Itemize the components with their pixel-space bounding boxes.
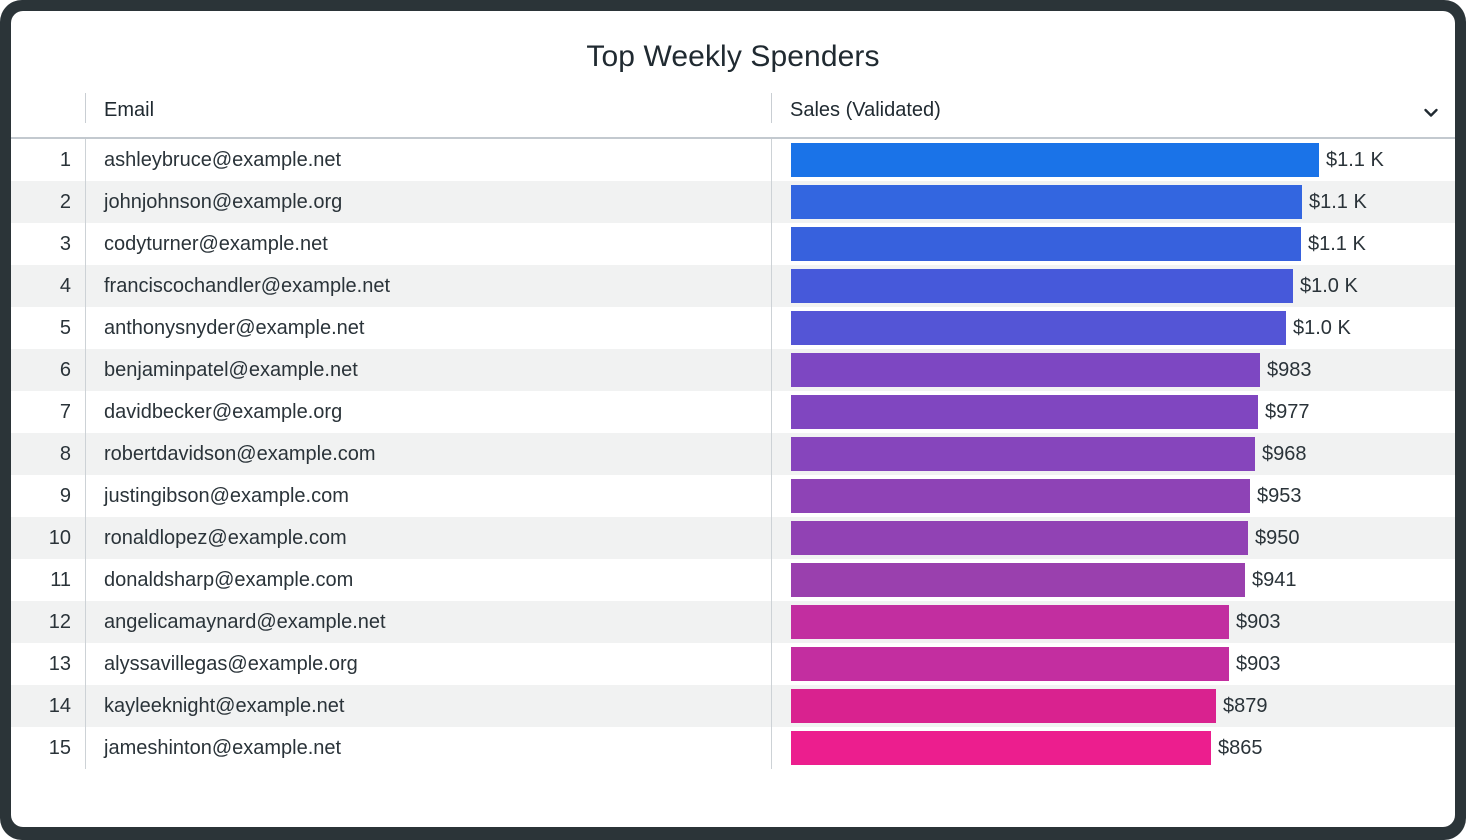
row-email-cell: ashleybruce@example.net (85, 138, 771, 181)
row-bar-value-label: $950 (1248, 527, 1300, 550)
row-email-label: angelicamaynard@example.net (85, 601, 771, 643)
table-body: 1ashleybruce@example.net$1.1 K2johnjohns… (11, 138, 1455, 769)
row-sales-inner: $879 (771, 685, 1455, 727)
row-email-cell: benjaminpatel@example.net (85, 349, 771, 391)
row-email-label: jameshinton@example.net (85, 727, 771, 769)
row-rank: 2 (11, 181, 85, 223)
row-rank: 1 (11, 138, 85, 181)
column-header-email[interactable]: Email (85, 93, 771, 138)
row-rank: 7 (11, 391, 85, 433)
row-bar (791, 143, 1319, 177)
row-sales-cell: $865 (771, 727, 1455, 769)
row-email-cell: jameshinton@example.net (85, 727, 771, 769)
column-header-sales-label: Sales (Validated) (790, 97, 941, 123)
table-row[interactable]: 14kayleeknight@example.net$879 (11, 685, 1455, 727)
row-rank: 3 (11, 223, 85, 265)
row-sales-cell: $983 (771, 349, 1455, 391)
row-bar (791, 269, 1293, 303)
row-rank: 14 (11, 685, 85, 727)
row-bar-value-label: $1.1 K (1319, 149, 1384, 172)
chevron-down-icon[interactable] (1421, 103, 1441, 123)
row-sales-inner: $950 (771, 517, 1455, 559)
row-rank: 4 (11, 265, 85, 307)
spenders-table: Email Sales (Validated) (11, 93, 1455, 769)
row-email-label: donaldsharp@example.com (85, 559, 771, 601)
column-header-rank (11, 93, 85, 138)
row-email-label: robertdavidson@example.com (85, 433, 771, 475)
row-rank: 12 (11, 601, 85, 643)
row-rank: 6 (11, 349, 85, 391)
row-email-cell: angelicamaynard@example.net (85, 601, 771, 643)
table-row[interactable]: 11donaldsharp@example.com$941 (11, 559, 1455, 601)
row-bar-value-label: $865 (1211, 737, 1263, 760)
row-sales-inner: $1.0 K (771, 307, 1455, 349)
row-bar-value-label: $1.1 K (1301, 233, 1366, 256)
row-bar (791, 395, 1258, 429)
row-bar-value-label: $983 (1260, 359, 1312, 382)
row-email-label: franciscochandler@example.net (85, 265, 771, 307)
table-row[interactable]: 15jameshinton@example.net$865 (11, 727, 1455, 769)
row-email-cell: davidbecker@example.org (85, 391, 771, 433)
row-sales-inner: $1.1 K (771, 223, 1455, 265)
row-bar-value-label: $941 (1245, 569, 1297, 592)
row-rank: 10 (11, 517, 85, 559)
row-bar (791, 185, 1302, 219)
row-email-cell: franciscochandler@example.net (85, 265, 771, 307)
row-email-label: kayleeknight@example.net (85, 685, 771, 727)
row-sales-cell: $879 (771, 685, 1455, 727)
device-frame: Top Weekly Spenders Email (0, 0, 1466, 840)
row-rank: 13 (11, 643, 85, 685)
row-bar (791, 353, 1260, 387)
row-email-cell: codyturner@example.net (85, 223, 771, 265)
row-sales-inner: $1.0 K (771, 265, 1455, 307)
row-bar-value-label: $1.0 K (1286, 317, 1351, 340)
row-email-label: davidbecker@example.org (85, 391, 771, 433)
table-row[interactable]: 13alyssavillegas@example.org$903 (11, 643, 1455, 685)
row-sales-cell: $950 (771, 517, 1455, 559)
row-bar-value-label: $903 (1229, 611, 1281, 634)
table-row[interactable]: 6benjaminpatel@example.net$983 (11, 349, 1455, 391)
row-bar (791, 563, 1245, 597)
table-header-row: Email Sales (Validated) (11, 93, 1455, 138)
row-bar (791, 605, 1229, 639)
row-email-cell: anthonysnyder@example.net (85, 307, 771, 349)
row-email-cell: kayleeknight@example.net (85, 685, 771, 727)
row-email-label: ronaldlopez@example.com (85, 517, 771, 559)
row-bar-value-label: $968 (1255, 443, 1307, 466)
page-title: Top Weekly Spenders (11, 11, 1455, 77)
chart-card: Top Weekly Spenders Email (11, 11, 1455, 827)
row-sales-inner: $903 (771, 601, 1455, 643)
row-bar (791, 647, 1229, 681)
row-bar (791, 521, 1248, 555)
column-header-email-label: Email (104, 97, 154, 123)
row-bar-value-label: $1.0 K (1293, 275, 1358, 298)
row-sales-inner: $977 (771, 391, 1455, 433)
row-sales-cell: $903 (771, 643, 1455, 685)
row-sales-cell: $941 (771, 559, 1455, 601)
row-sales-inner: $983 (771, 349, 1455, 391)
table-row[interactable]: 1ashleybruce@example.net$1.1 K (11, 138, 1455, 181)
table-header: Email Sales (Validated) (11, 93, 1455, 138)
row-email-label: justingibson@example.com (85, 475, 771, 517)
row-sales-cell: $953 (771, 475, 1455, 517)
row-email-cell: alyssavillegas@example.org (85, 643, 771, 685)
table-row[interactable]: 9justingibson@example.com$953 (11, 475, 1455, 517)
row-rank: 9 (11, 475, 85, 517)
row-sales-cell: $977 (771, 391, 1455, 433)
row-sales-inner: $941 (771, 559, 1455, 601)
row-bar (791, 437, 1255, 471)
row-bar (791, 227, 1301, 261)
table-row[interactable]: 7davidbecker@example.org$977 (11, 391, 1455, 433)
row-bar (791, 689, 1216, 723)
row-email-label: johnjohnson@example.org (85, 181, 771, 223)
row-bar-value-label: $1.1 K (1302, 191, 1367, 214)
row-rank: 8 (11, 433, 85, 475)
row-sales-inner: $968 (771, 433, 1455, 475)
row-email-cell: justingibson@example.com (85, 475, 771, 517)
row-rank: 15 (11, 727, 85, 769)
row-email-label: anthonysnyder@example.net (85, 307, 771, 349)
row-sales-cell: $1.0 K (771, 307, 1455, 349)
row-bar (791, 479, 1250, 513)
row-sales-inner: $1.1 K (771, 139, 1455, 181)
table-row[interactable]: 4franciscochandler@example.net$1.0 K (11, 265, 1455, 307)
row-sales-cell: $1.1 K (771, 138, 1455, 181)
table-row[interactable]: 8robertdavidson@example.com$968 (11, 433, 1455, 475)
row-bar-value-label: $879 (1216, 695, 1268, 718)
row-email-label: alyssavillegas@example.org (85, 643, 771, 685)
table-row[interactable]: 2johnjohnson@example.org$1.1 K (11, 181, 1455, 223)
row-sales-inner: $903 (771, 643, 1455, 685)
row-bar-value-label: $977 (1258, 401, 1310, 424)
row-sales-inner: $1.1 K (771, 181, 1455, 223)
row-bar (791, 311, 1286, 345)
row-rank: 5 (11, 307, 85, 349)
row-sales-cell: $1.0 K (771, 265, 1455, 307)
table-row[interactable]: 12angelicamaynard@example.net$903 (11, 601, 1455, 643)
table-row[interactable]: 5anthonysnyder@example.net$1.0 K (11, 307, 1455, 349)
row-sales-cell: $968 (771, 433, 1455, 475)
row-bar-value-label: $953 (1250, 485, 1302, 508)
row-email-cell: donaldsharp@example.com (85, 559, 771, 601)
column-header-sales[interactable]: Sales (Validated) (771, 93, 1455, 138)
row-sales-cell: $903 (771, 601, 1455, 643)
row-email-cell: ronaldlopez@example.com (85, 517, 771, 559)
table-row[interactable]: 3codyturner@example.net$1.1 K (11, 223, 1455, 265)
row-email-cell: robertdavidson@example.com (85, 433, 771, 475)
row-email-label: ashleybruce@example.net (85, 139, 771, 181)
row-sales-cell: $1.1 K (771, 223, 1455, 265)
row-email-label: codyturner@example.net (85, 223, 771, 265)
row-bar-value-label: $903 (1229, 653, 1281, 676)
row-rank: 11 (11, 559, 85, 601)
row-email-label: benjaminpatel@example.net (85, 349, 771, 391)
row-sales-inner: $865 (771, 727, 1455, 769)
row-email-cell: johnjohnson@example.org (85, 181, 771, 223)
row-sales-cell: $1.1 K (771, 181, 1455, 223)
table-row[interactable]: 10ronaldlopez@example.com$950 (11, 517, 1455, 559)
row-bar (791, 731, 1211, 765)
row-sales-inner: $953 (771, 475, 1455, 517)
